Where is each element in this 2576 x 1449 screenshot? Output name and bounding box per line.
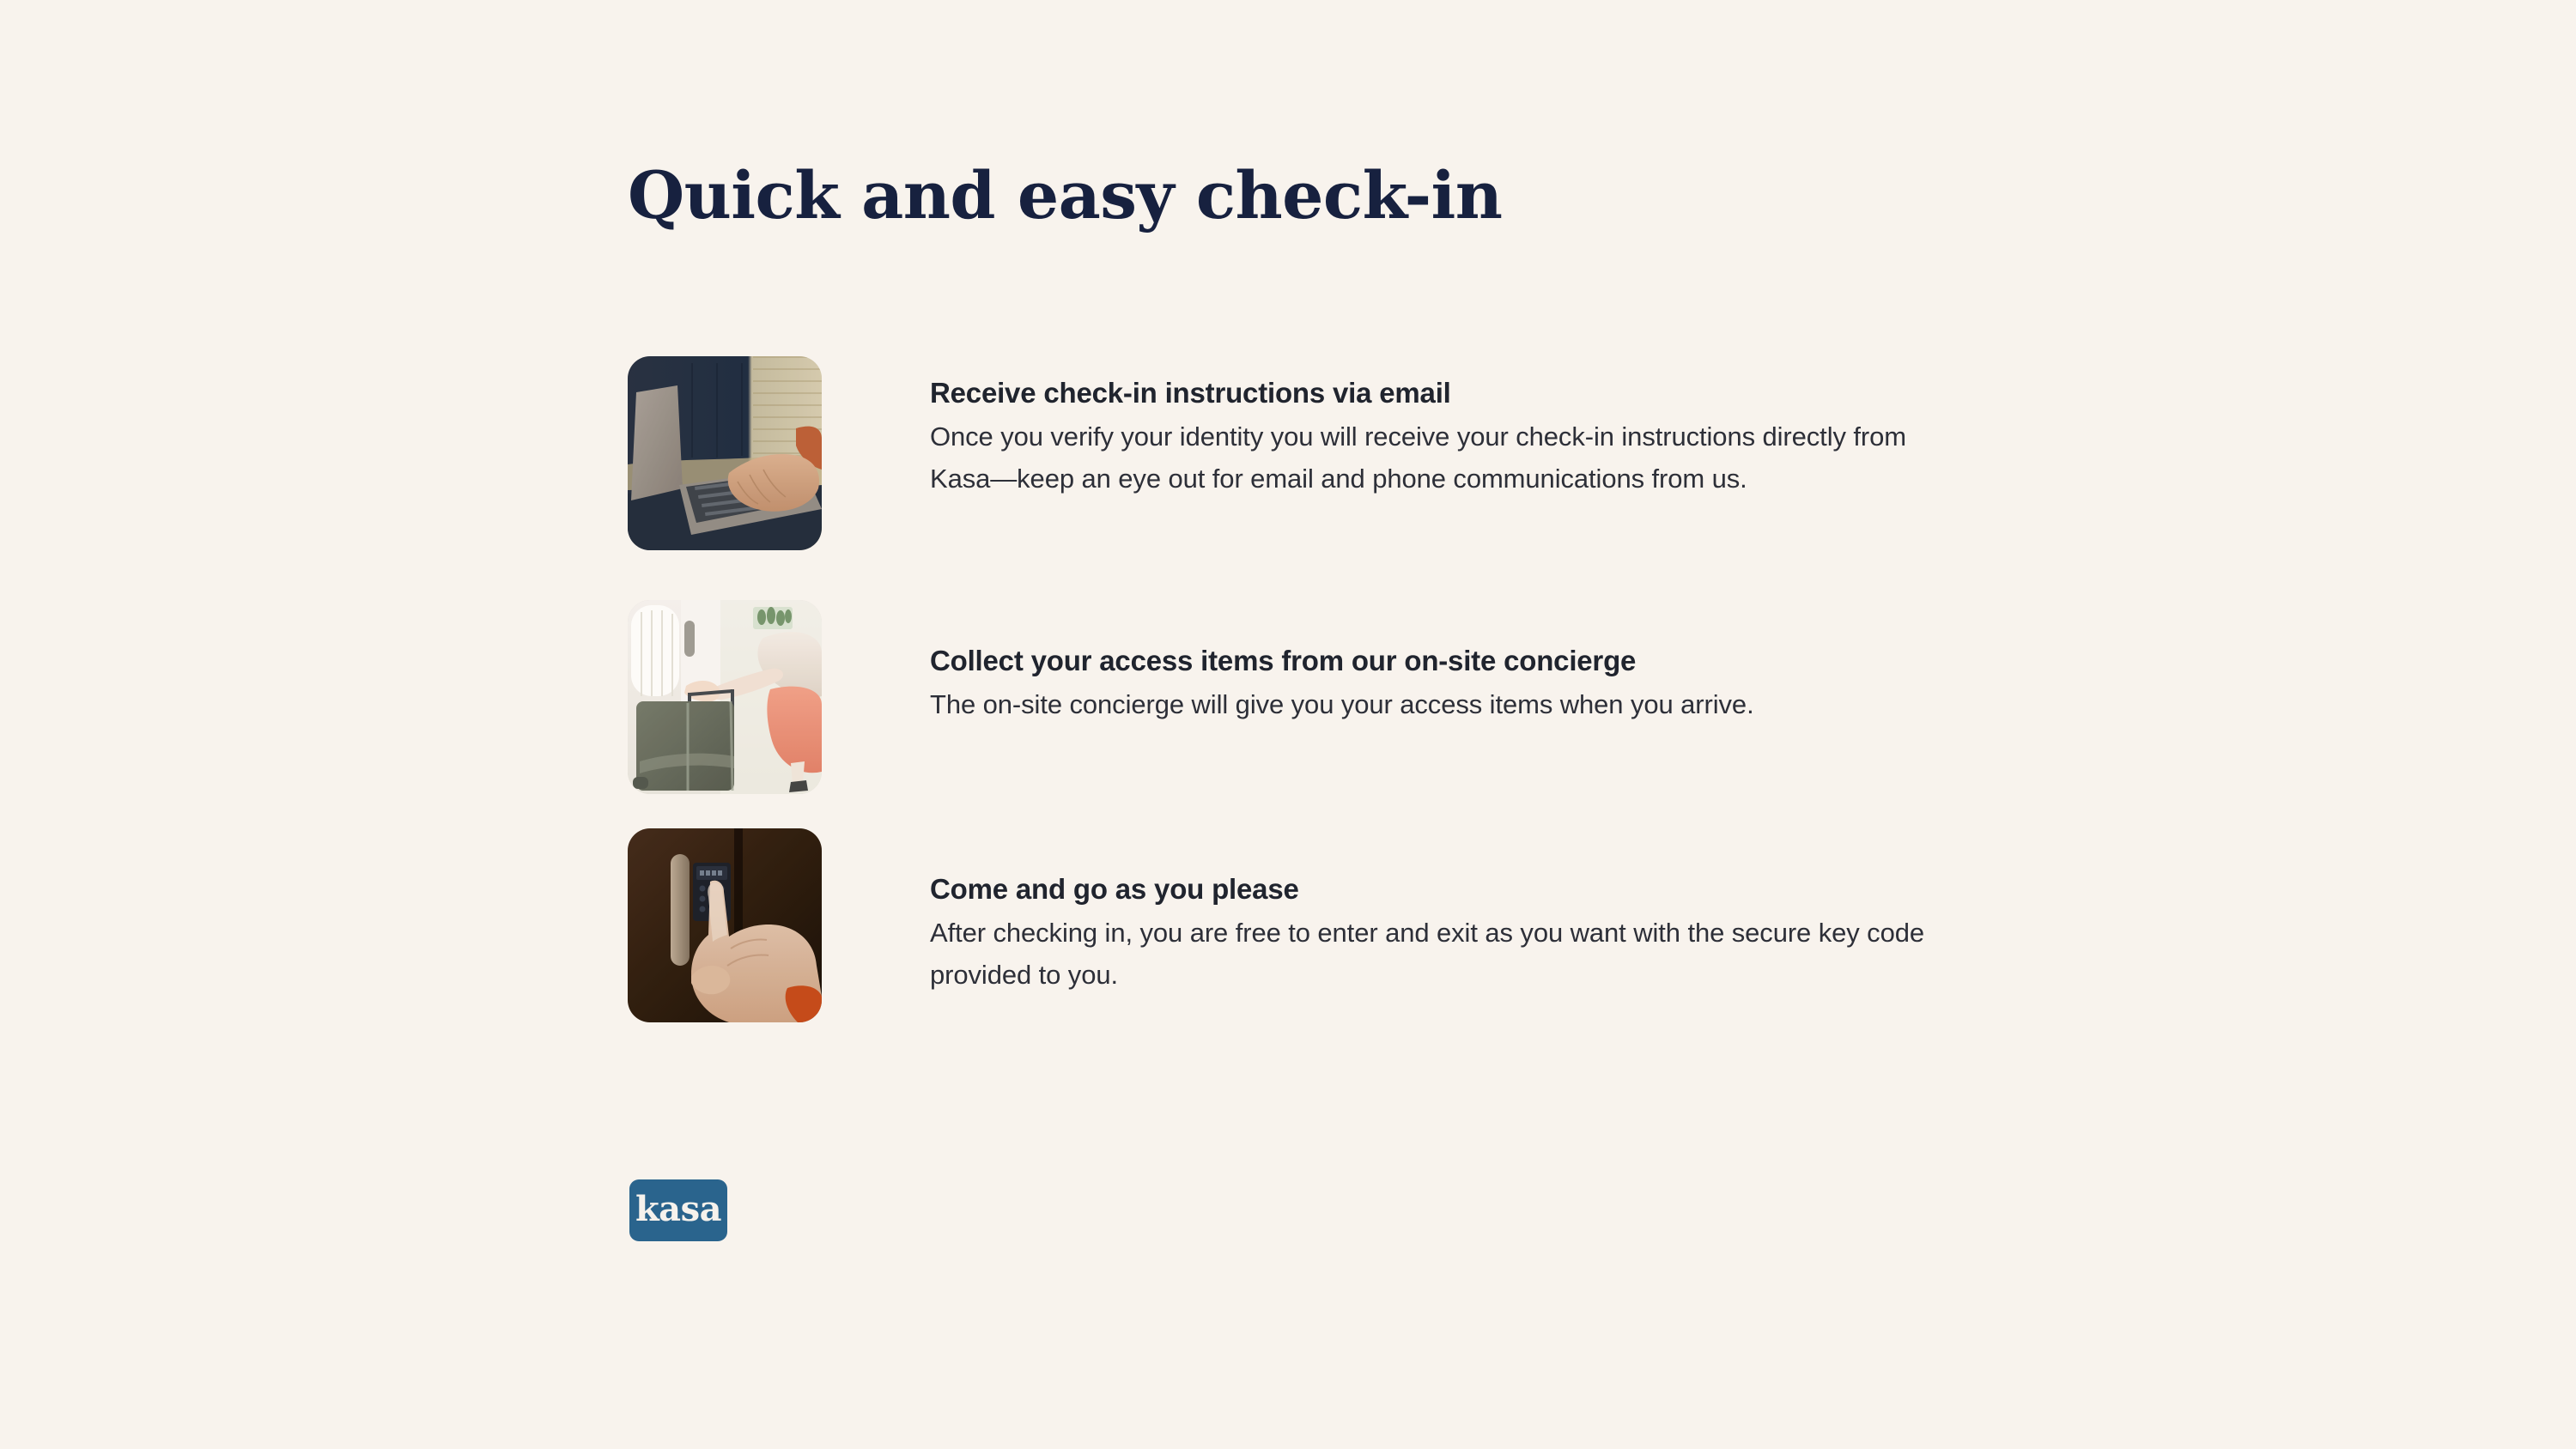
- guest-with-suitcase-photo: [628, 600, 822, 794]
- list-item: Come and go as you please After checking…: [628, 828, 1967, 1022]
- kasa-logo-badge: kasa: [629, 1179, 727, 1241]
- step-text: Come and go as you please After checking…: [822, 828, 1967, 997]
- hand-entering-door-keypad-code-photo: [628, 828, 822, 1022]
- step-heading: Collect your access items from our on-si…: [930, 643, 1967, 678]
- kasa-wordmark: kasa: [635, 1192, 721, 1227]
- list-item: Receive check-in instructions via email …: [628, 356, 1967, 550]
- step-body: Once you verify your identity you will r…: [930, 416, 1952, 500]
- check-in-steps-list: Receive check-in instructions via email …: [628, 356, 1967, 1022]
- person-typing-on-laptop-photo: [628, 356, 822, 550]
- step-text: Receive check-in instructions via email …: [822, 356, 1967, 500]
- step-body: After checking in, you are free to enter…: [930, 912, 1952, 997]
- check-in-info-page: Quick and easy check-in: [0, 0, 2576, 1449]
- step-body: The on-site concierge will give you your…: [930, 684, 1952, 726]
- step-heading: Come and go as you please: [930, 871, 1967, 906]
- kasa-logo[interactable]: kasa: [629, 1179, 727, 1241]
- step-text: Collect your access items from our on-si…: [822, 600, 1967, 726]
- step-heading: Receive check-in instructions via email: [930, 375, 1967, 410]
- list-item: Collect your access items from our on-si…: [628, 600, 1967, 794]
- page-title: Quick and easy check-in: [628, 161, 1502, 230]
